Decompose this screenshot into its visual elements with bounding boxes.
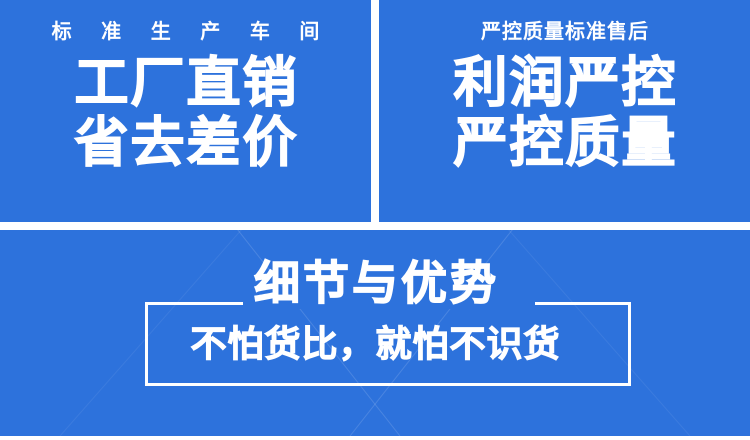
panel-factory-direct-headline-line2: 省去差价 <box>73 116 299 172</box>
panel-quality-control: 严控质量标准售后 利润严控 严控质量 <box>379 0 750 222</box>
panel-quality-control-headline-line1: 利润严控 <box>452 56 678 112</box>
panel-factory-direct-content: 标 准 生 产 车 间 工厂直销 省去差价 <box>0 0 371 222</box>
promo-banner: 标 准 生 产 车 间 工厂直销 省去差价 严控质量标准售后 利润严控 严控质量… <box>0 0 750 440</box>
panel-quality-control-eyebrow: 严控质量标准售后 <box>480 22 649 42</box>
details-title: 细节与优势 <box>0 260 750 306</box>
panel-factory-direct: 标 准 生 产 车 间 工厂直销 省去差价 <box>0 0 371 222</box>
top-panel-row: 标 准 生 产 车 间 工厂直销 省去差价 严控质量标准售后 利润严控 严控质量 <box>0 0 750 222</box>
details-subtitle: 不怕货比，就怕不识货 <box>0 326 750 362</box>
panel-factory-direct-eyebrow: 标 准 生 产 车 间 <box>40 22 332 42</box>
panel-quality-control-content: 严控质量标准售后 利润严控 严控质量 <box>379 0 750 222</box>
panel-quality-control-headline-line2: 严控质量 <box>452 116 678 172</box>
panel-details-advantages: 细节与优势 不怕货比，就怕不识货 <box>0 230 750 436</box>
panel-factory-direct-headline-line1: 工厂直销 <box>73 56 299 112</box>
